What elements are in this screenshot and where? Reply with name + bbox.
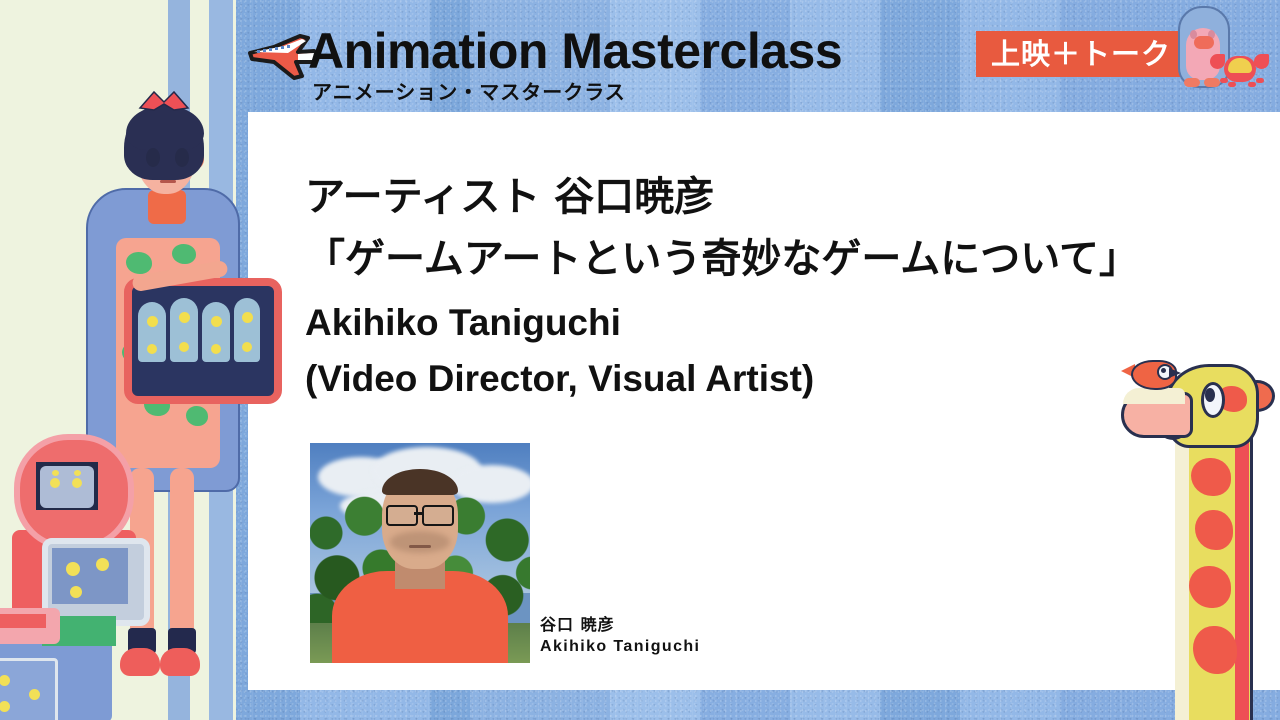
robot-screen-dot [66, 562, 80, 576]
giraffe-spot [1189, 566, 1231, 608]
girl-basket [124, 278, 282, 404]
photo-glasses-bridge [414, 512, 424, 515]
girl-dress-dot [172, 244, 196, 264]
basket-dot [179, 312, 190, 323]
speaker-role-en: (Video Director, Visual Artist) [305, 358, 814, 400]
basket-dot [242, 342, 252, 352]
robot-panel-dot [29, 689, 40, 700]
girl-hair-bow-icon [138, 90, 190, 112]
basket-dot [147, 316, 158, 327]
robot-panel-dot [0, 675, 10, 686]
robot-control-panel [0, 658, 58, 720]
robot-screen-image [52, 548, 128, 604]
robot-eye [50, 478, 60, 488]
photo-mouth [409, 545, 431, 548]
photo-glasses-left [386, 505, 418, 526]
page-title-ja-line1: アーティスト 谷口暁彦 [305, 164, 714, 222]
robot-screen-dot [96, 558, 109, 571]
giraffe-snout-highlight [1123, 388, 1185, 404]
girl-mouth [160, 180, 176, 183]
photo-glasses-right [422, 505, 454, 526]
giraffe-spot [1193, 626, 1237, 674]
status-badge: 上映＋トーク [976, 31, 1186, 77]
basket-dot [179, 342, 189, 352]
giraffe-spot [1195, 510, 1233, 550]
brand-title-ja: アニメーション・マスタークラス [312, 76, 626, 105]
girl-neck [148, 190, 186, 224]
crab-leg [1220, 78, 1228, 83]
photo-caption-ja: 谷口 暁彦 [540, 611, 615, 635]
penguin-foot-left [1184, 78, 1200, 87]
basket-dot [147, 344, 157, 354]
girl-dress-dot [186, 406, 208, 426]
speaker-portrait-photo [310, 443, 530, 663]
giraffe-pupil [1205, 388, 1215, 402]
robot-eye [52, 470, 59, 476]
photo-face-shadow [390, 531, 450, 553]
giraffe-neck-light-stripe [1175, 410, 1189, 720]
basket-dot [242, 312, 253, 323]
girl-bangs [126, 106, 204, 150]
slide-header: Animation Masterclass アニメーション・マスタークラス 上映… [236, 0, 1280, 112]
robot-eye [72, 478, 82, 488]
crab-claw-right [1254, 54, 1269, 69]
robot-panel-dot [0, 701, 10, 712]
basket-dot [211, 344, 221, 354]
crab-leg [1228, 82, 1236, 87]
bird-beak [1169, 368, 1181, 378]
presentation-slide: Animation Masterclass アニメーション・マスタークラス 上映… [0, 0, 1280, 720]
robot-eye [74, 470, 81, 476]
crab-shell [1228, 58, 1252, 73]
robot-screen-dot [70, 586, 82, 598]
brand-title-en: Animation Masterclass [308, 22, 842, 80]
giraffe-mane [1235, 410, 1249, 720]
basket-cell [234, 298, 260, 362]
crab-leg [1256, 78, 1264, 83]
photo-caption-en: Akihiko Taniguchi [540, 638, 700, 656]
girl-dress-dot [126, 252, 152, 274]
crab-leg [1248, 82, 1256, 87]
bird-pupil [1161, 368, 1166, 373]
basket-cell [170, 298, 198, 362]
girl-eye-right [175, 148, 189, 167]
page-title-ja-line2: 「ゲームアートという奇妙なゲームについて」 [305, 226, 1139, 284]
crab-claw-left [1210, 54, 1225, 69]
basket-dot [211, 316, 222, 327]
giraffe-spot [1191, 458, 1231, 496]
robot-slot-inner [0, 614, 46, 628]
robot-illustration [0, 430, 175, 720]
girl-eye-left [146, 148, 160, 167]
speaker-name-en: Akihiko Taniguchi [305, 302, 621, 344]
giraffe-illustration [1113, 350, 1273, 720]
robot-face [40, 466, 94, 508]
crab-illustration [1210, 48, 1268, 92]
